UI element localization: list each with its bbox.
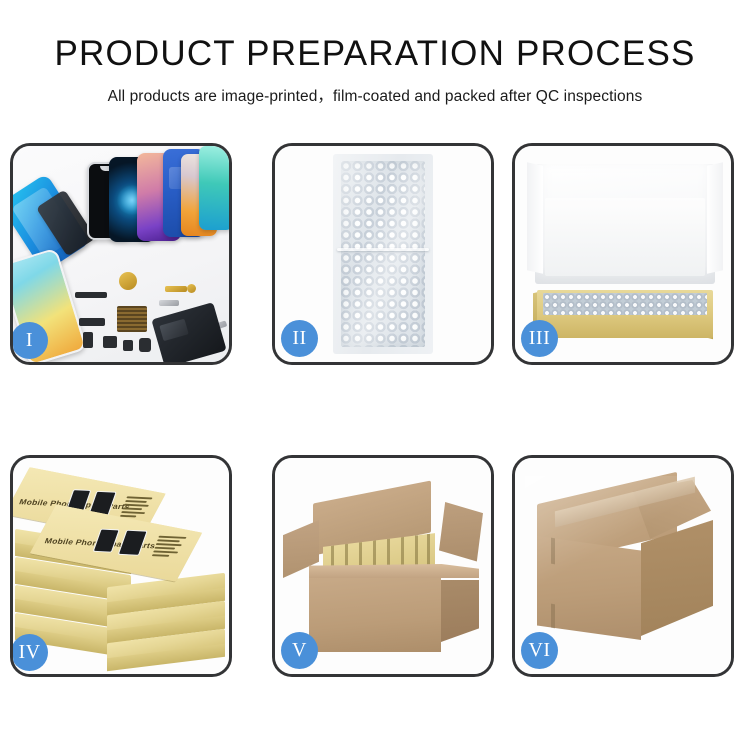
bubble-wrapped-contents: [543, 293, 707, 315]
step-panel-6: VI: [512, 455, 734, 677]
bubble-wrap-package: [333, 154, 433, 354]
step-panel-5: V: [272, 455, 494, 677]
step-badge-6: VI: [521, 632, 558, 669]
step-panel-4: Mobile Phone Spare Parts Mobile Phone: [10, 455, 232, 677]
logic-board: [151, 302, 226, 362]
step-badge-1: I: [11, 322, 48, 359]
spare-parts-cluster: [69, 266, 229, 362]
carton-seam-lower: [551, 604, 555, 629]
carton-rim: [309, 564, 479, 578]
page-subtitle: All products are image-printed，film-coat…: [0, 84, 750, 106]
step-badge-3: III: [521, 320, 558, 357]
step-badge-4: IV: [11, 634, 48, 671]
phone-screen-teal: [199, 146, 229, 230]
photo-phone-screens-and-spare-parts: [13, 146, 229, 362]
photo-stacked-inner-boxes: Mobile Phone Spare Parts Mobile Phone: [13, 458, 229, 674]
carton-seam-upper: [551, 538, 555, 565]
product-preparation-infographic: PRODUCT PREPARATION PROCESS All products…: [0, 0, 750, 750]
step-panel-1: I: [10, 143, 232, 365]
carton-flap-right: [439, 502, 483, 564]
kraft-inner-box: [537, 290, 713, 338]
bubble-wrap-seam: [337, 248, 429, 251]
header: PRODUCT PREPARATION PROCESS All products…: [0, 0, 750, 106]
carton-side-panel: [441, 580, 479, 642]
page-title: PRODUCT PREPARATION PROCESS: [0, 34, 750, 74]
step-panel-2: II: [272, 143, 494, 365]
steps-grid: I II: [10, 143, 740, 677]
box-stack: Mobile Phone Spare Parts Mobile Phone: [15, 472, 229, 668]
step-panel-3: III: [512, 143, 734, 365]
step-badge-5: V: [281, 632, 318, 669]
foam-sheet: [545, 198, 705, 276]
step-badge-2: II: [281, 320, 318, 357]
carton-front-panel: [309, 578, 441, 652]
bubble-wrap-texture: [341, 161, 425, 347]
